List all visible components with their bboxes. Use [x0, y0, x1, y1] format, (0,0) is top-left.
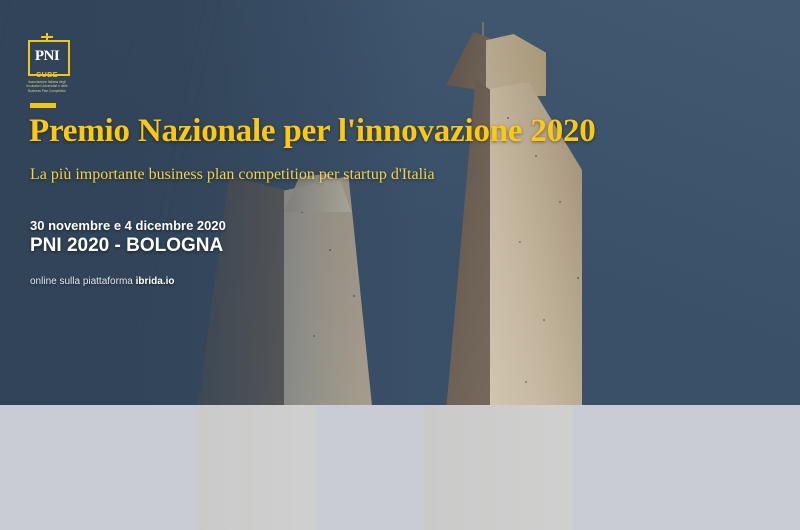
platform-prefix: online sulla piattaforma [30, 276, 136, 287]
platform-name: ibrida.io [136, 276, 175, 287]
logo-crossbar-icon [41, 36, 53, 38]
logo-word: CUBE [22, 72, 72, 79]
event-location: PNI 2020 - BOLOGNA [30, 235, 223, 257]
page-title: Premio Nazionale per l'innovazione 2020 [29, 113, 596, 150]
hero-content: PNI CUBE Associazione Italiana degli Inc… [0, 0, 800, 405]
page-subtitle: La più importante business plan competit… [30, 166, 435, 184]
logo-tagline: Associazione Italiana degli Incubatori U… [22, 80, 72, 93]
event-date: 30 novembre e 4 dicembre 2020 [30, 218, 226, 233]
pni-cube-logo: PNI CUBE Associazione Italiana degli Inc… [22, 33, 74, 89]
pni-2020-poster: PNI CUBE Associazione Italiana degli Inc… [0, 0, 800, 530]
sponsor-footer: Organizzato da Grazie a Main partner Spo… [0, 405, 800, 530]
footer-veil [0, 405, 800, 530]
accent-dash [30, 103, 56, 108]
platform-line: online sulla piattaforma ibrida.io [30, 276, 175, 287]
logo-initials: PNI [28, 40, 66, 72]
